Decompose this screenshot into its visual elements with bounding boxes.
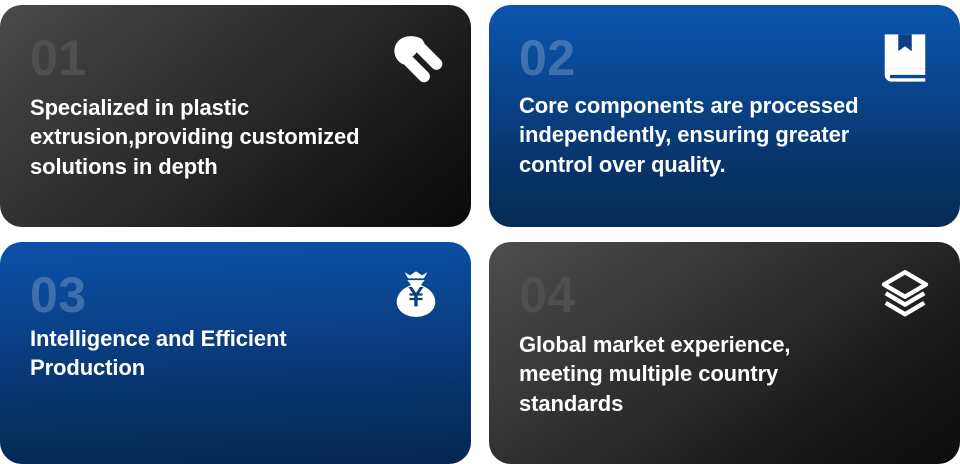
feature-card-02[interactable]: 02 Core components are processed indepen… bbox=[489, 5, 960, 227]
card-number: 02 bbox=[519, 33, 934, 83]
card-text: Global market experience, meeting multip… bbox=[519, 330, 934, 418]
layers-icon bbox=[876, 266, 934, 324]
book-icon bbox=[876, 29, 934, 87]
money-bag-yen-icon bbox=[387, 266, 445, 324]
feature-card-04[interactable]: 04 Global market experience, meeting mul… bbox=[489, 242, 960, 464]
card-text: Core components are processed independen… bbox=[519, 91, 934, 179]
feature-card-01[interactable]: 01 Specialized in plastic extrusion,prov… bbox=[0, 5, 471, 227]
feature-cards-grid: 01 Specialized in plastic extrusion,prov… bbox=[0, 0, 960, 459]
card-text: Specialized in plastic extrusion,providi… bbox=[30, 93, 445, 181]
card-number: 01 bbox=[30, 33, 445, 83]
wrench-icon bbox=[387, 29, 445, 87]
card-number: 03 bbox=[30, 270, 445, 320]
feature-card-03[interactable]: 03 Intelligence and Efficient Production bbox=[0, 242, 471, 464]
card-number: 04 bbox=[519, 270, 934, 320]
card-text: Intelligence and Efficient Production bbox=[30, 324, 445, 383]
